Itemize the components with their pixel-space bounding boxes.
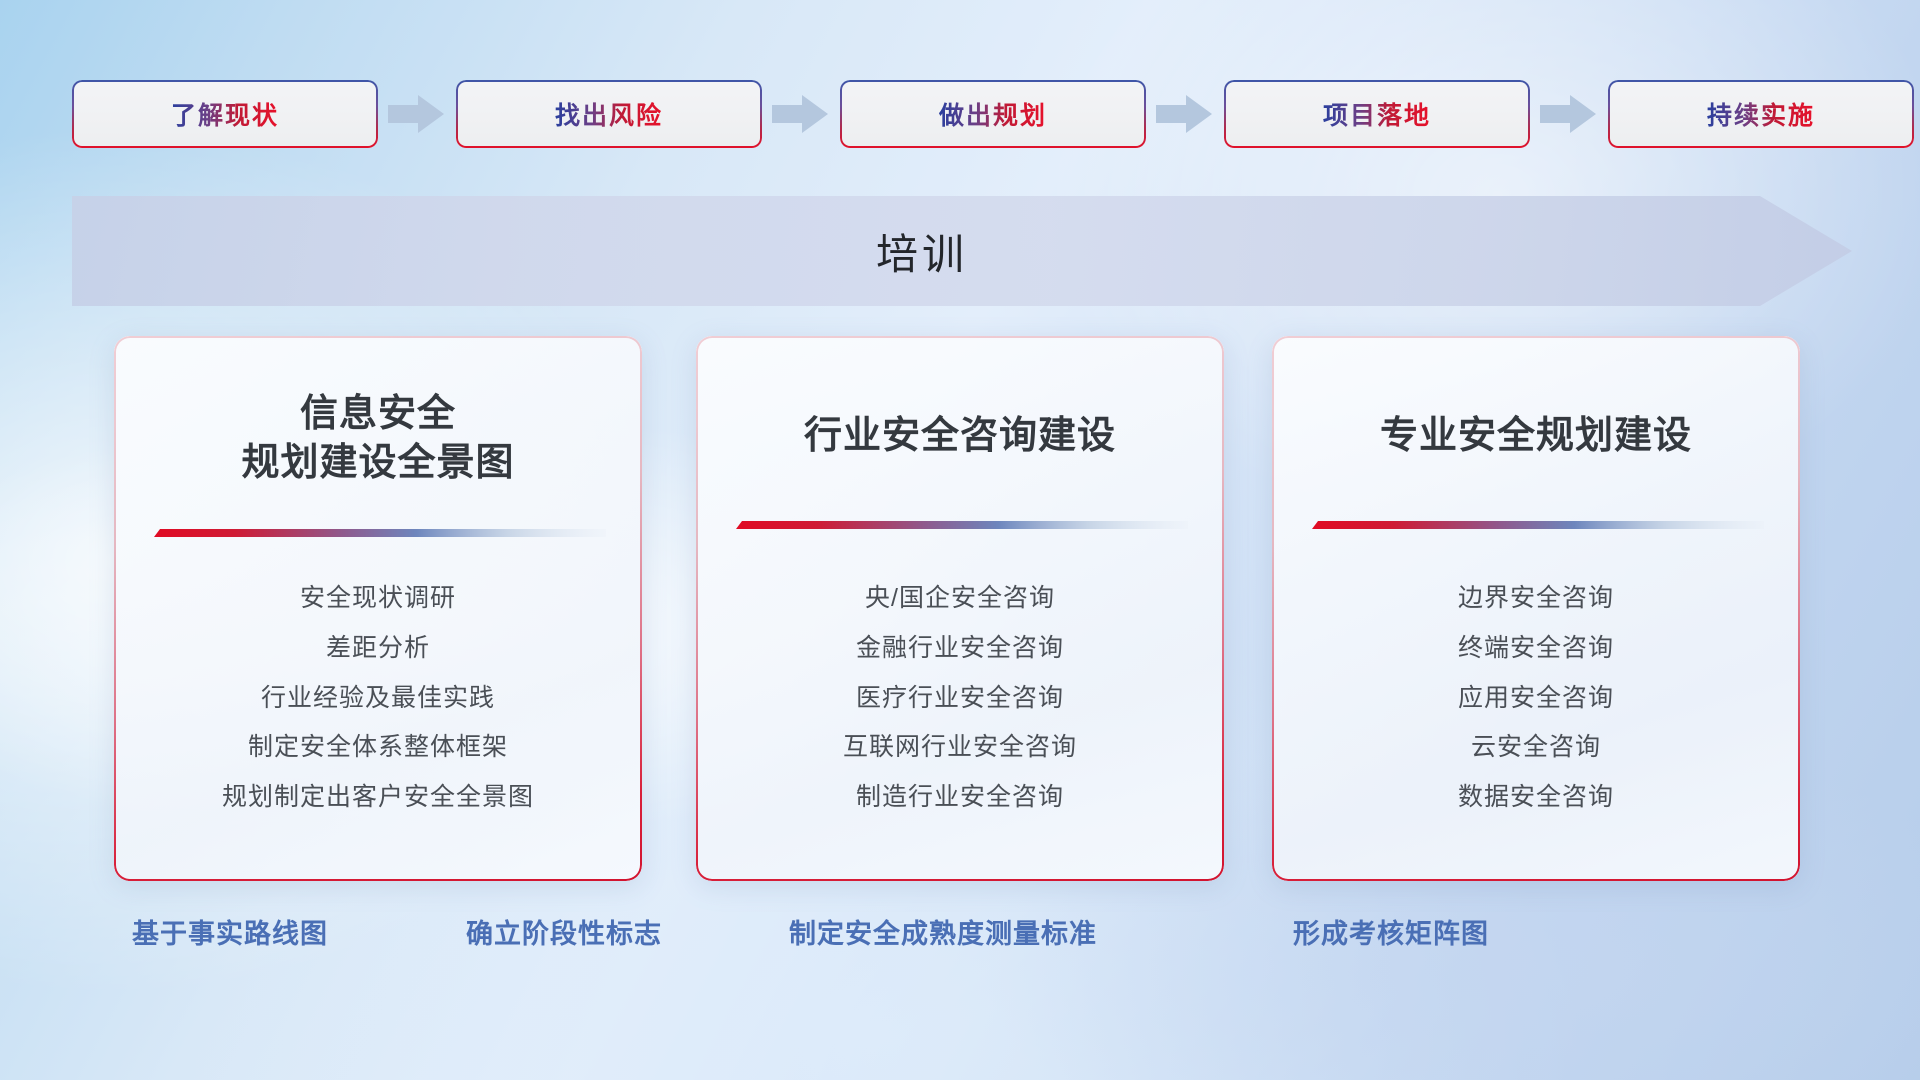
process-step-4[interactable]: 项目落地 xyxy=(1224,80,1530,148)
list-item: 安全现状调研 xyxy=(300,582,456,616)
card-industry-consulting[interactable]: 行业安全咨询建设 xyxy=(696,336,1224,881)
card-title: 行业安全咨询建设 xyxy=(696,412,1224,461)
gradient-rule-icon xyxy=(1304,520,1764,530)
process-step-2[interactable]: 找出风险 xyxy=(456,80,762,148)
slide-canvas: 了解现状 找出风险 做出规划 项目落地 xyxy=(0,0,1920,1080)
process-step-3[interactable]: 做出规划 xyxy=(840,80,1146,148)
process-steps: 了解现状 找出风险 做出规划 项目落地 xyxy=(72,78,1852,150)
process-step-label: 项目落地 xyxy=(1323,96,1431,132)
footnote-row: 基于事实路线图 确立阶段性标志 制定安全成熟度测量标准 形成考核矩阵图 xyxy=(0,912,1920,972)
process-step-label: 了解现状 xyxy=(171,96,279,132)
card-group: 信息安全 规划建设全景图 xyxy=(0,336,1920,896)
card-item-list: 边界安全咨询 终端安全咨询 应用安全咨询 云安全咨询 数据安全咨询 xyxy=(1272,582,1800,815)
list-item: 行业经验及最佳实践 xyxy=(261,682,495,716)
footnote-label: 制定安全成熟度测量标准 xyxy=(789,912,1097,951)
process-step-1[interactable]: 了解现状 xyxy=(72,80,378,148)
list-item: 规划制定出客户安全全景图 xyxy=(222,781,534,815)
card-title: 信息安全 规划建设全景图 xyxy=(114,390,642,487)
right-arrow-icon xyxy=(386,92,448,136)
training-banner: 培训 xyxy=(72,196,1852,306)
process-step-5[interactable]: 持续实施 xyxy=(1608,80,1914,148)
list-item: 金融行业安全咨询 xyxy=(856,632,1064,666)
footnote-label: 形成考核矩阵图 xyxy=(1293,912,1489,951)
list-item: 差距分析 xyxy=(326,632,430,666)
list-item: 制定安全体系整体框架 xyxy=(248,731,508,765)
card-professional-planning[interactable]: 专业安全规划建设 xyxy=(1272,336,1800,881)
list-item: 边界安全咨询 xyxy=(1458,582,1614,616)
gradient-rule-icon xyxy=(728,520,1188,530)
process-step-label: 做出规划 xyxy=(939,96,1047,132)
card-item-list: 央/国企安全咨询 金融行业安全咨询 医疗行业安全咨询 互联网行业安全咨询 制造行… xyxy=(696,582,1224,815)
list-item: 央/国企安全咨询 xyxy=(865,582,1055,616)
list-item: 云安全咨询 xyxy=(1471,731,1601,765)
process-step-label: 持续实施 xyxy=(1707,96,1815,132)
list-item: 应用安全咨询 xyxy=(1458,682,1614,716)
list-item: 医疗行业安全咨询 xyxy=(856,682,1064,716)
card-item-list: 安全现状调研 差距分析 行业经验及最佳实践 制定安全体系整体框架 规划制定出客户… xyxy=(114,582,642,815)
process-step-label: 找出风险 xyxy=(555,96,663,132)
gradient-rule-icon xyxy=(146,528,606,538)
right-arrow-icon xyxy=(1538,92,1600,136)
footnote-label: 基于事实路线图 xyxy=(132,912,328,951)
list-item: 制造行业安全咨询 xyxy=(856,781,1064,815)
list-item: 互联网行业安全咨询 xyxy=(843,731,1077,765)
right-arrow-icon xyxy=(1154,92,1216,136)
list-item: 终端安全咨询 xyxy=(1458,632,1614,666)
card-title: 专业安全规划建设 xyxy=(1272,412,1800,461)
right-arrow-icon xyxy=(770,92,832,136)
card-information-security[interactable]: 信息安全 规划建设全景图 xyxy=(114,336,642,881)
footnote-label: 确立阶段性标志 xyxy=(466,912,662,951)
banner-title: 培训 xyxy=(72,196,1772,306)
list-item: 数据安全咨询 xyxy=(1458,781,1614,815)
